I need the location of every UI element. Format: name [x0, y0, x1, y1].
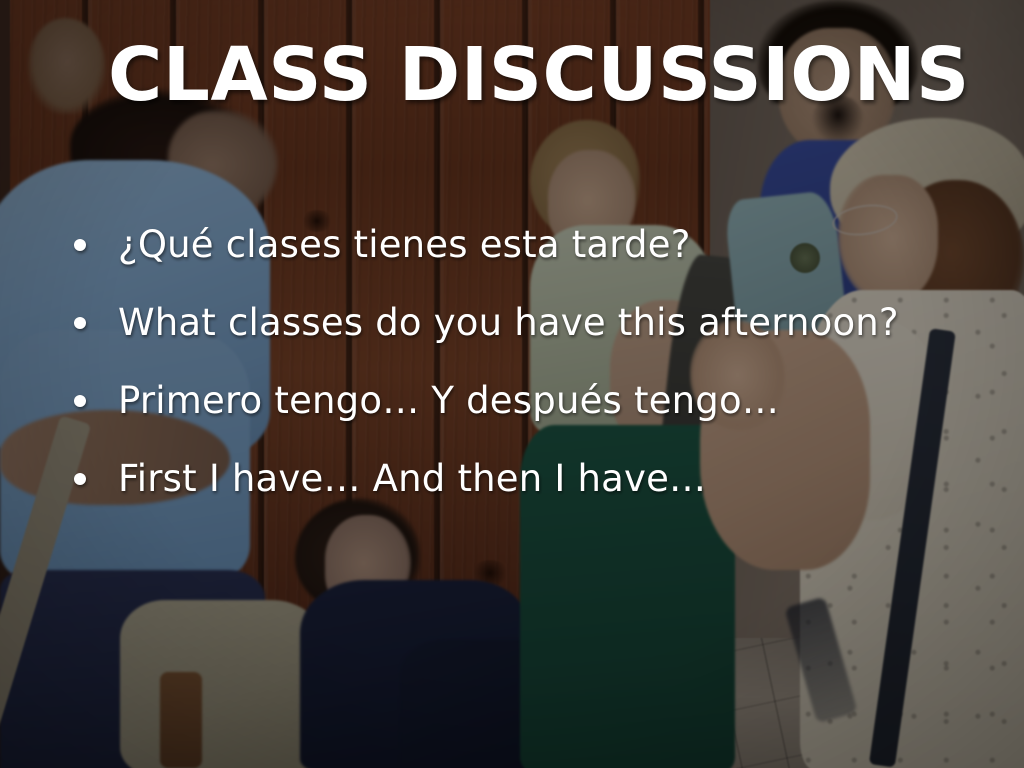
- bullet-point-icon: [74, 239, 86, 251]
- list-item: Primero tengo… Y después tengo…: [70, 362, 1010, 440]
- list-item: First I have… And then I have…: [70, 440, 1010, 518]
- list-item-label: Primero tengo… Y después tengo…: [118, 382, 779, 421]
- bullet-point-icon: [74, 473, 86, 485]
- bullet-point-icon: [74, 317, 86, 329]
- list-item-label: ¿Qué clases tienes esta tarde?: [118, 226, 691, 265]
- slide-text-layer: CLASS DISCUSSIONS ¿Qué clases tienes est…: [0, 0, 1024, 768]
- list-item: ¿Qué clases tienes esta tarde?: [70, 206, 1010, 284]
- page-title: CLASS DISCUSSIONS: [108, 38, 970, 112]
- bullet-point-icon: [74, 395, 86, 407]
- list-item: What classes do you have this afternoon?: [70, 284, 1010, 362]
- presentation-slide: CLASS DISCUSSIONS ¿Qué clases tienes est…: [0, 0, 1024, 768]
- list-item-label: What classes do you have this afternoon?: [118, 304, 899, 343]
- list-item-label: First I have… And then I have…: [118, 460, 706, 499]
- bullet-list: ¿Qué clases tienes esta tarde? What clas…: [70, 206, 1010, 518]
